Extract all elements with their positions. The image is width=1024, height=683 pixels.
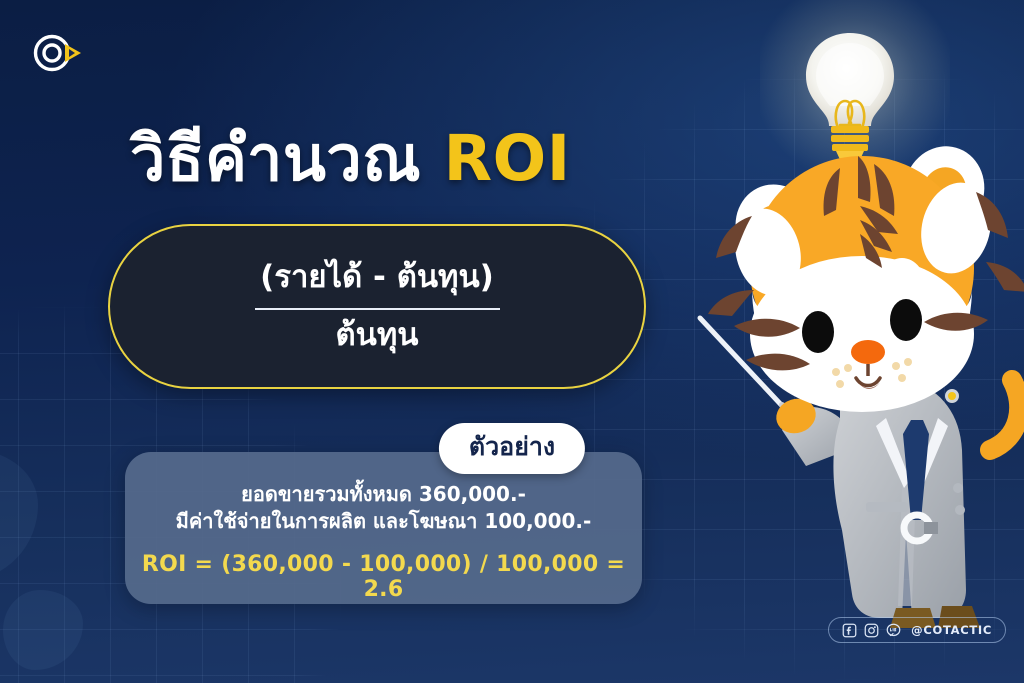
cotactic-logo[interactable]: [28, 30, 90, 76]
title-roi: ROI: [444, 122, 571, 195]
example-line-1: ยอดขายรวมทั้งหมด 360,000.-: [125, 481, 642, 508]
social-badge[interactable]: @COTACTIC: [828, 617, 1006, 643]
example-text-block: ยอดขายรวมทั้งหมด 360,000.- มีค่าใช้จ่ายใ…: [125, 481, 642, 535]
page-title: วิธีคำนวณ ROI: [130, 108, 571, 208]
line-icon[interactable]: [886, 623, 901, 638]
roi-result-line: ROI = (360,000 - 100,000) / 100,000 = 2.…: [125, 552, 642, 602]
example-line-2: มีค่าใช้จ่ายในการผลิต และโฆษณา 100,000.-: [125, 508, 642, 535]
fraction-divider: [255, 308, 500, 310]
tiger-mascot: [690, 120, 1024, 630]
landmass-shape: [0, 450, 38, 580]
instagram-icon[interactable]: [864, 623, 879, 638]
cotactic-target-logo-icon: [28, 30, 90, 76]
formula-denominator: ต้นทุน: [336, 318, 419, 354]
nose: [851, 340, 885, 364]
example-badge: ตัวอย่าง: [439, 423, 585, 474]
roi-formula-box: (รายได้ - ต้นทุน) ต้นทุน: [108, 224, 646, 389]
example-card: ยอดขายรวมทั้งหมด 360,000.- มีค่าใช้จ่ายใ…: [125, 452, 642, 604]
landmass-shape: [3, 590, 83, 670]
tiger-mascot-illustration: [690, 120, 1024, 630]
eye-pupil: [890, 299, 922, 341]
infographic-poster: วิธีคำนวณ ROI (รายได้ - ต้นทุน) ต้นทุน ย…: [0, 0, 1024, 683]
tiger-head: [708, 137, 1024, 412]
title-thai: วิธีคำนวณ: [130, 122, 444, 195]
facebook-icon[interactable]: [842, 623, 857, 638]
formula-numerator: (รายได้ - ต้นทุน): [260, 260, 494, 296]
social-handle: @COTACTIC: [911, 623, 992, 637]
eye-pupil: [802, 311, 834, 353]
